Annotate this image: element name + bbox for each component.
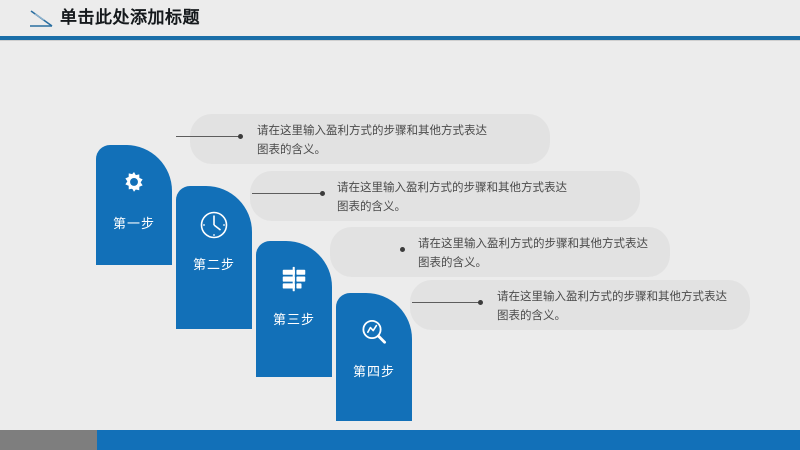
step-card-1[interactable]: 第一步 <box>96 145 172 265</box>
step-label-1: 第一步 <box>96 213 172 232</box>
triangle-ruler-icon <box>28 9 54 29</box>
chart-search-icon <box>336 315 412 349</box>
gear-icon <box>96 167 172 201</box>
step-text-3: 请在这里输入盈利方式的步骤和其他方式表达 图表的含义。 <box>418 234 668 272</box>
slide-body: 请在这里输入盈利方式的步骤和其他方式表达 图表的含义。 请在这里输入盈利方式的步… <box>0 41 800 425</box>
step-card-2[interactable]: 第二步 <box>176 186 252 329</box>
page-title: 单击此处添加标题 <box>60 7 200 29</box>
step-label-3: 第三步 <box>256 309 332 328</box>
footer-right-segment <box>97 430 800 450</box>
step-label-2: 第二步 <box>176 254 252 273</box>
connector-bullet-2 <box>320 191 325 196</box>
step-label-4: 第四步 <box>336 361 412 380</box>
connector-bullet-4 <box>478 300 483 305</box>
connector-bullet-3 <box>400 247 405 252</box>
step-text-2: 请在这里输入盈利方式的步骤和其他方式表达 图表的含义。 <box>337 178 637 216</box>
connector-bullet-1 <box>238 134 243 139</box>
connector-line-1 <box>176 136 240 137</box>
step-text-4: 请在这里输入盈利方式的步骤和其他方式表达 图表的含义。 <box>497 287 747 325</box>
step-card-4[interactable]: 第四步 <box>336 293 412 421</box>
step-text-1: 请在这里输入盈利方式的步骤和其他方式表达 图表的含义。 <box>257 121 547 159</box>
slide-header: 单击此处添加标题 <box>0 0 800 36</box>
step-card-3[interactable]: 第三步 <box>256 241 332 377</box>
server-stack-icon <box>256 263 332 297</box>
connector-line-4 <box>412 302 480 303</box>
clock-icon <box>176 208 252 242</box>
connector-line-2 <box>252 193 322 194</box>
footer-left-segment <box>0 430 97 450</box>
